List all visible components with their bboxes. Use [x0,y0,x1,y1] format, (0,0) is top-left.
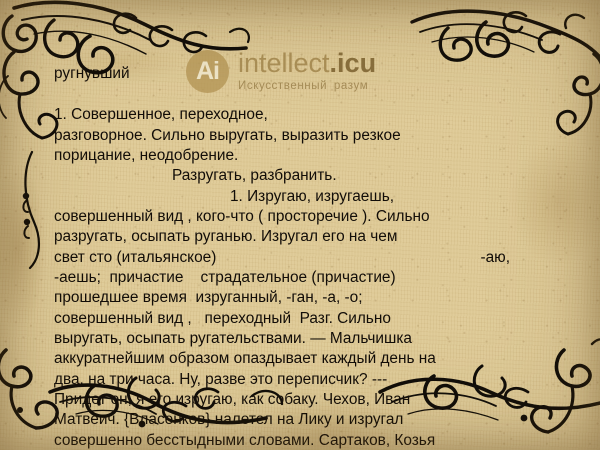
definition-line-11: совершенный вид , переходный Разг. Сильн… [54,309,566,329]
definition-line-8: свет сто (итальянское) -аю, [54,248,566,268]
conjugation-line: 1. Изругаю, изругаешь, [54,187,566,207]
definition-line-13: аккуратнейшим образом опаздывает каждый … [54,349,566,369]
definition-line-14: два, на три часа. Ну, разве это переписч… [54,370,566,390]
definition-line-6: совершенный вид , кого-что ( просторечие… [54,207,566,227]
definition-line-8-head: свет сто (итальянское) [54,248,216,268]
definition-line-9: -аешь; причастие страдательное (причасти… [54,268,566,288]
presentation-slide: Ai intellect.icu Искусственный разум руг… [0,0,600,450]
definition-line-2: разговорное. Сильно выругать, выразить р… [54,126,566,146]
definition-line-8-ending: -аю, [480,248,566,268]
definition-line-3: порицание, неодобрение. [54,146,566,166]
definition-line-1: 1. Совершенное, переходное, [54,105,566,125]
citation-line-1: Придет он, я его изругаю, как собаку. Че… [54,390,566,410]
definition-line-7: разругать, осыпать руганью. Изругал его … [54,227,566,247]
entry-headword: ругнувший [54,64,566,84]
filigree-ornament-left-rule [18,150,44,270]
synonyms-line: Разругать, разбранить. [54,166,566,186]
citation-line-3: совершенно бесстыдными словами. Сартаков… [54,431,566,450]
definition-line-10: прошедшее время изруганный, -ган, -а, -о… [54,288,566,308]
slide-text-content: ругнувший 1. Совершенное, переходное, ра… [54,64,566,450]
citation-line-2: Матвеич. {Власенков} налетел на Лику и и… [54,410,566,430]
definition-line-12: выругать, осыпать ругательствами. — Маль… [54,329,566,349]
